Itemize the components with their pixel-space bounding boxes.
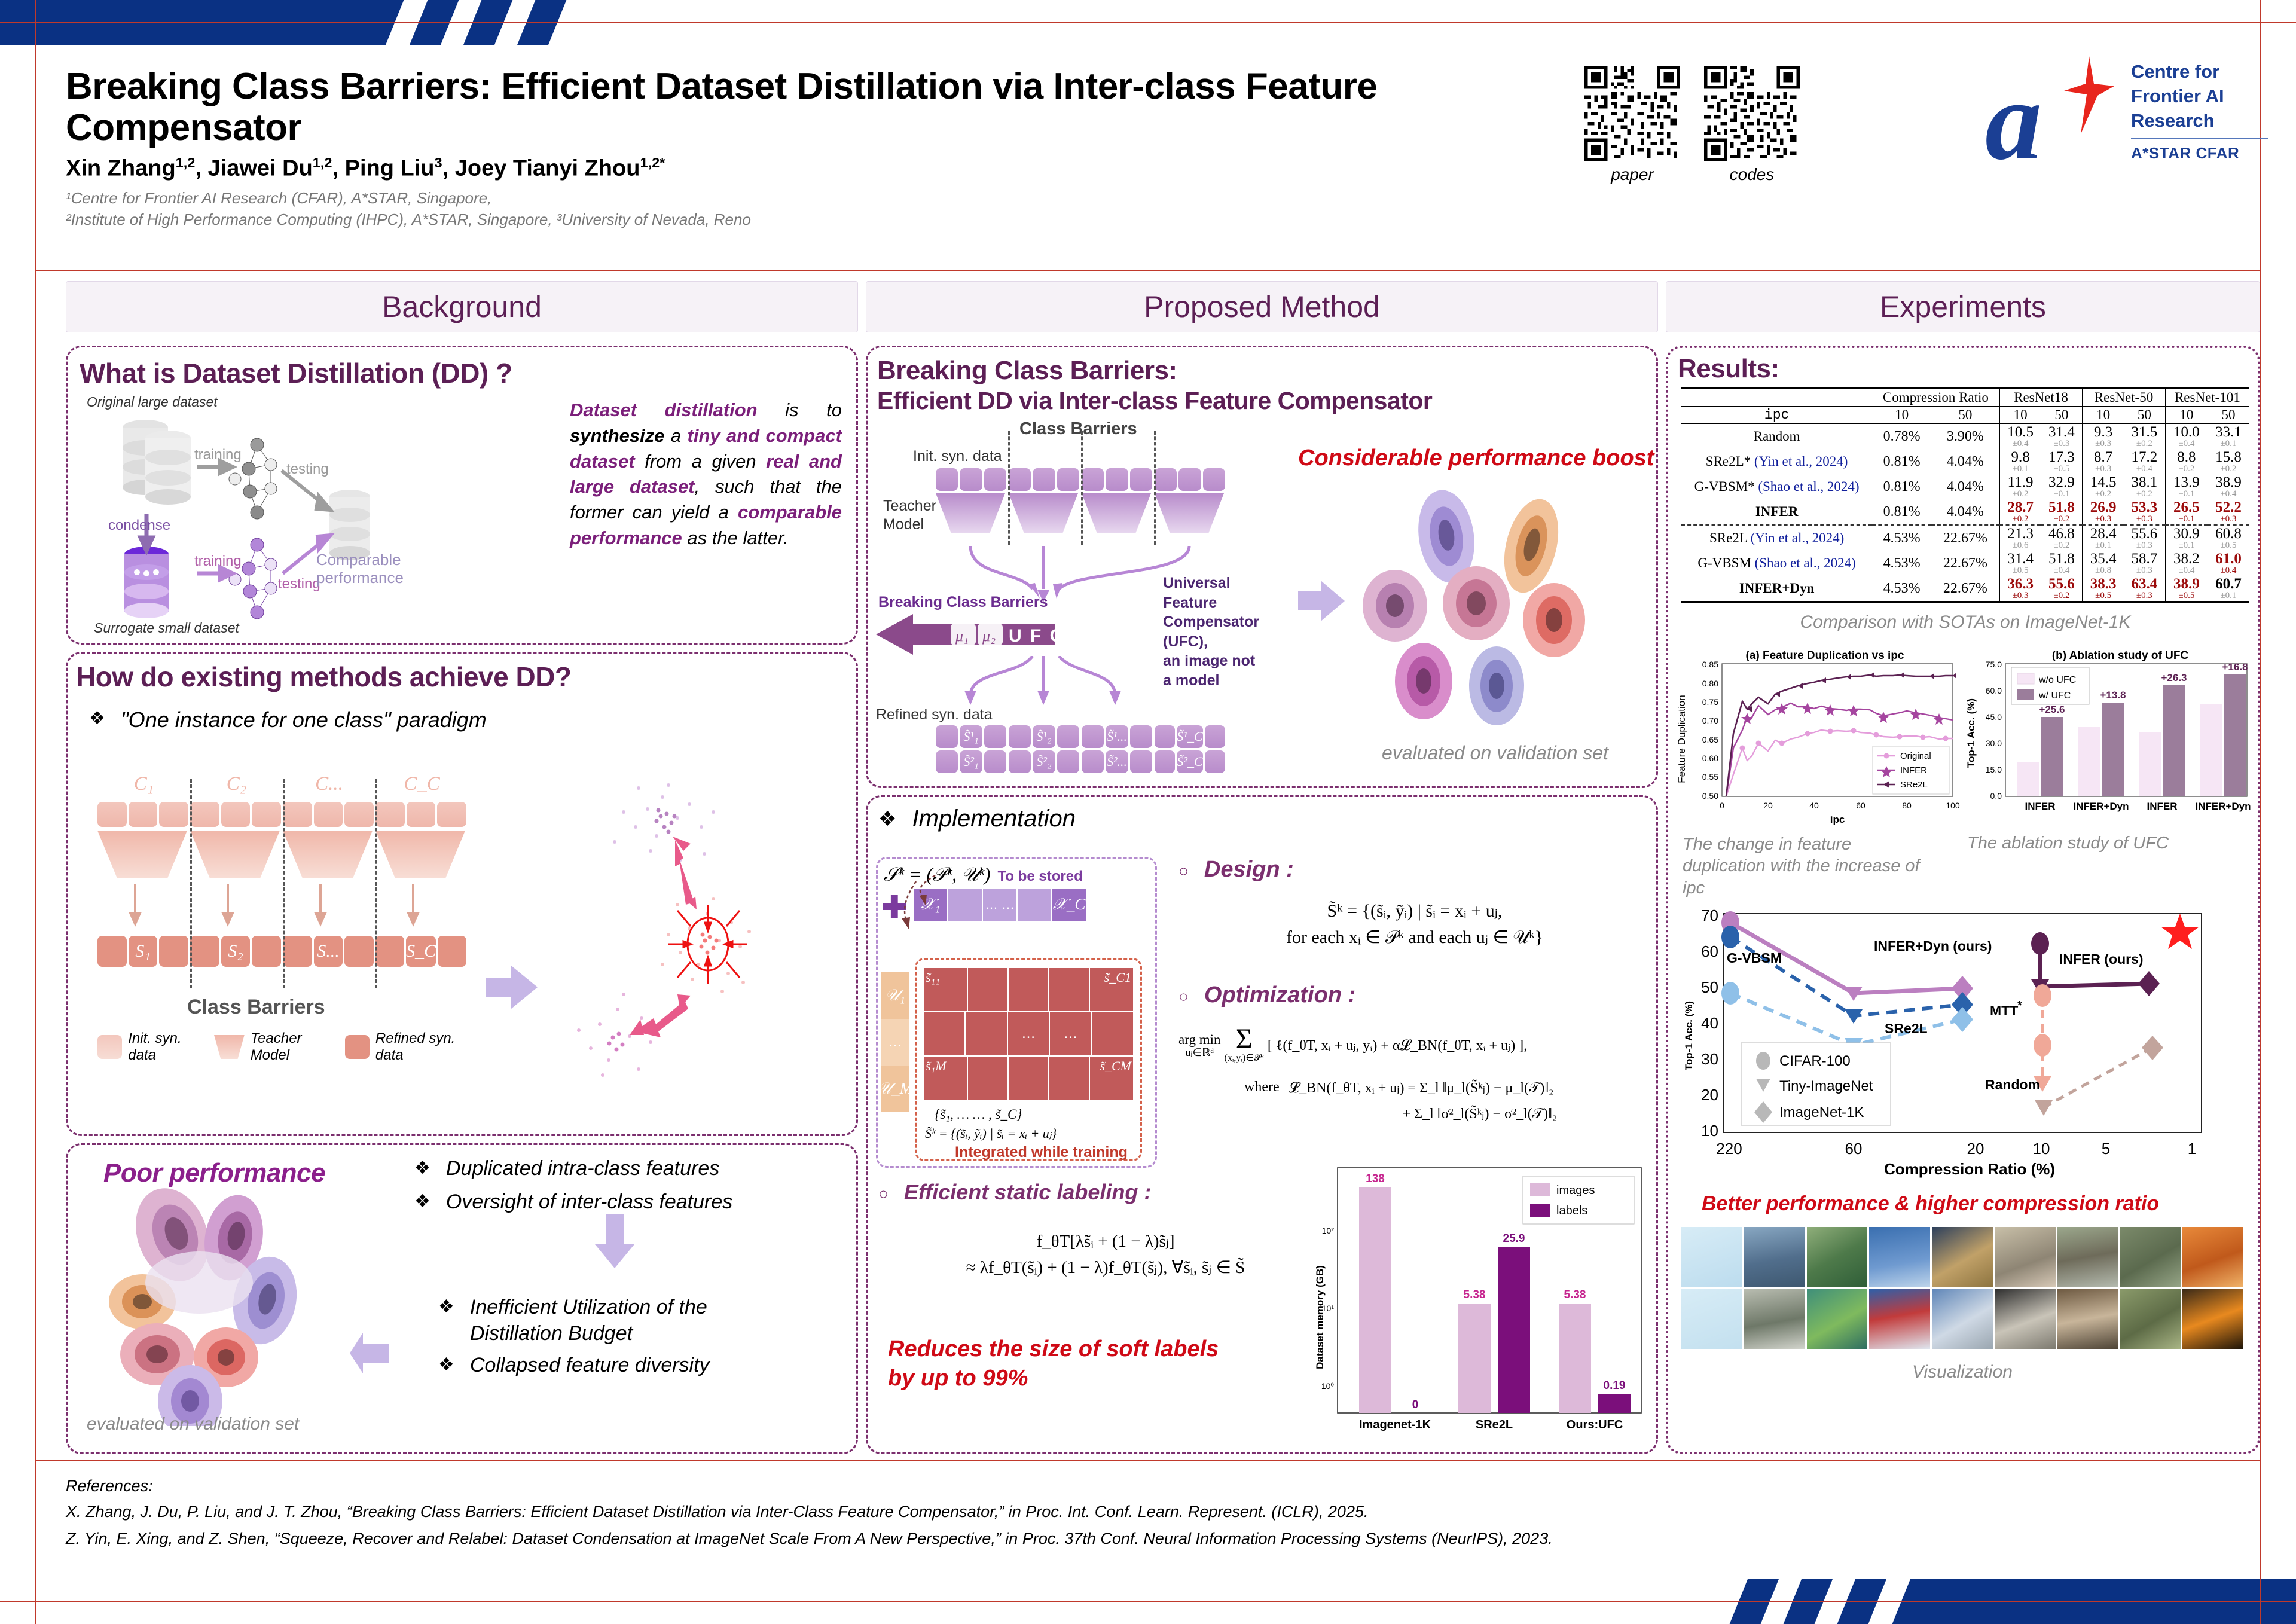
svg-text:+25.6: +25.6	[2039, 704, 2065, 715]
poor-performance-label: Poor performance	[103, 1158, 325, 1188]
panel-what-is-dd: What is Dataset Distillation (DD) ? Orig…	[66, 346, 858, 645]
table-row-method: G-VBSM (Shao et al., 2024)	[1681, 551, 1872, 576]
svg-text:45.0: 45.0	[1986, 712, 2002, 722]
memory-bar-chart: Dataset memory (GB) 10² 10¹ 10⁰ 138 0 5.…	[1310, 1162, 1651, 1443]
svg-text:Top-1 Acc. (%): Top-1 Acc. (%)	[1683, 1001, 1694, 1070]
qr-paper[interactable]: paper	[1584, 66, 1680, 184]
svg-text:30: 30	[1701, 1050, 1718, 1068]
circle-bullet-icon: ○	[1178, 862, 1189, 881]
table-cell-accuracy: 17.2±0.4	[2124, 449, 2165, 474]
visualization-row-1	[1681, 1227, 2243, 1287]
th-r18-10: 10	[1999, 407, 2041, 424]
svg-text:60: 60	[1845, 1140, 1863, 1158]
th-r101-10: 10	[2165, 407, 2208, 424]
panel-results: Results: Compression Ratio ResNet18 ResN…	[1666, 346, 2260, 1454]
table-cell-accuracy: 31.4±0.5	[1999, 551, 2041, 576]
class-barriers-label: Class Barriers	[187, 996, 325, 1019]
class-barrier-divider	[190, 779, 192, 988]
poor-performance-bullets-bottom: ❖ Inefficient Utilization of the Distill…	[438, 1295, 845, 1379]
qr-paper-label: paper	[1584, 165, 1680, 184]
table-cell-compression-ratio: 4.04%	[1931, 474, 1999, 499]
diamond-bullet-icon: ❖	[89, 710, 105, 728]
class-barriers-heading: Class Barriers	[1019, 419, 1137, 439]
svg-text:0.55: 0.55	[1702, 772, 1718, 782]
section-header-experiments-label: Experiments	[1880, 289, 2046, 324]
table-cell-compression-ratio: 3.90%	[1931, 424, 1999, 450]
table-row: G-VBSM* (Shao et al., 2024)0.81%4.04%11.…	[1681, 474, 2249, 499]
section-header-proposed-method-label: Proposed Method	[1144, 289, 1380, 324]
visualization-tile	[2057, 1227, 2118, 1287]
class-label-1: C₁	[97, 773, 190, 795]
class-label-2: C₂	[190, 773, 283, 795]
label-performance: performance	[316, 569, 404, 587]
refined-label-r1c3: S̃¹...	[1106, 725, 1128, 748]
th-cr-10: 10	[1872, 407, 1931, 424]
argmin-sub: uⱼ∈ℝᵈ	[1178, 1047, 1220, 1059]
svg-text:0.80: 0.80	[1702, 679, 1718, 688]
table-row-method: INFER	[1681, 499, 1872, 525]
breaking-class-barriers-label: Breaking Class Barriers	[878, 594, 1048, 611]
compression-accuracy-chart: Top-1 Acc. (%) 706050 40302010 2206020 1…	[1677, 904, 2245, 1185]
svg-text:MTT: MTT	[1990, 1003, 2018, 1018]
table-row: Random0.78%3.90%10.5±0.431.4±0.39.3±0.33…	[1681, 424, 2249, 450]
refined-syn-tiles: S̃¹₁ S̃¹₂ S̃¹... S̃¹_C S̃²₁ S̃²₂ S̃²... …	[936, 725, 1225, 773]
visualization-tile	[1807, 1289, 1868, 1349]
table-cell-accuracy: 60.7±0.1	[2208, 576, 2249, 602]
logo-text-block: Centre for Frontier AI Research	[2131, 60, 2268, 133]
caption-chart-a: The change in feature duplication with t…	[1683, 834, 1934, 899]
svg-text:SRe2L: SRe2L	[1476, 1418, 1513, 1431]
u-first: 𝒰₁	[881, 972, 909, 1019]
circle-bullet-icon: ○	[878, 1185, 889, 1204]
refined-label-r2c3: S̃²...	[1106, 750, 1128, 773]
x-last: 𝒳_C	[1052, 889, 1086, 921]
svg-text:INFER: INFER	[2025, 801, 2056, 812]
caption-chart-b: The ablation study of UFC	[1967, 834, 2218, 853]
database-stack-small	[124, 547, 169, 618]
label-testing-top: testing	[286, 461, 329, 478]
storage-box: 𝒮ᵏ = (𝒫ᵏ, 𝒰ᵏ) To be stored ✚ 𝒳₁ … … 𝒳_C …	[876, 857, 1157, 1168]
implementation-heading-row: ❖ Implementation	[878, 805, 1656, 832]
svg-text:CIFAR-100: CIFAR-100	[1779, 1053, 1851, 1069]
u-last: 𝒰_M	[881, 1066, 909, 1112]
svg-text:0: 0	[1720, 801, 1724, 810]
th-cr-50: 50	[1931, 407, 1999, 424]
diverging-arrows-bottom	[876, 656, 1259, 710]
th-resnet18: ResNet18	[1999, 389, 2083, 407]
design-formula-line2: for each xᵢ ∈ 𝒫ᵏ and each uⱼ ∈ 𝒰ᵏ}	[1178, 924, 1651, 951]
refined-syn-data-label: Refined syn. data	[876, 706, 993, 724]
table-cell-accuracy: 31.5±0.2	[2124, 424, 2165, 450]
teacher-trapezoids	[936, 493, 1224, 533]
u-dots: …	[881, 1019, 909, 1066]
svg-text:1: 1	[2188, 1140, 2196, 1158]
grid-br: s̃_CM	[1090, 1057, 1133, 1100]
panel-implementation: ❖ Implementation 𝒮ᵏ = (𝒫ᵏ, 𝒰ᵏ) To be sto…	[866, 795, 1658, 1454]
table-cell-accuracy: 8.8±0.2	[2165, 449, 2208, 474]
results-table-body: Random0.78%3.90%10.5±0.431.4±0.39.3±0.33…	[1681, 424, 2249, 602]
diamond-bullet-icon: ❖	[414, 1159, 430, 1177]
table-row: SRe2L* (Yin et al., 2024)0.81%4.04%9.8±0…	[1681, 449, 2249, 474]
table-cell-compression-ratio: 22.67%	[1931, 551, 1999, 576]
table-cell-accuracy: 58.7±0.3	[2124, 551, 2165, 576]
section-header-proposed-method: Proposed Method	[866, 281, 1658, 332]
design-formula-line1: S̃ᵏ = {(s̃ᵢ, ỹᵢ) | s̃ᵢ = xᵢ + uⱼ,	[1178, 898, 1651, 924]
table-cell-accuracy: 8.7±0.3	[2083, 449, 2124, 474]
svg-text:Feature Duplication: Feature Duplication	[1676, 695, 1687, 783]
svg-text:50: 50	[1701, 978, 1718, 996]
visualization-grid: Visualization	[1681, 1227, 2243, 1382]
table-cell-accuracy: 51.8±0.2	[2041, 499, 2082, 525]
s-grid: s̃₁₁ s̃_C1 … … s̃₁M	[924, 968, 1133, 1100]
table-cell-accuracy: 17.3±0.5	[2041, 449, 2082, 474]
legend-teacher-model-label: Teacher Model	[251, 1030, 339, 1064]
visualization-tile	[1807, 1227, 1868, 1287]
visualization-tile	[2057, 1289, 2118, 1349]
svg-text:Ours:UFC: Ours:UFC	[1567, 1418, 1623, 1431]
feature-scatter-illustration	[534, 761, 845, 1096]
table-cell-accuracy: 55.6±0.2	[2041, 576, 2082, 602]
table-row: G-VBSM (Shao et al., 2024)4.53%22.67%31.…	[1681, 551, 2249, 576]
svg-text:Top-1 Acc. (%): Top-1 Acc. (%)	[1965, 698, 1977, 768]
svg-text:75.0: 75.0	[1986, 660, 2002, 669]
table-row-method: SRe2L (Yin et al., 2024)	[1681, 525, 1872, 551]
visualization-tile	[1681, 1227, 1742, 1287]
design-block: ○ Design : S̃ᵏ = {(s̃ᵢ, ỹᵢ) | s̃ᵢ = xᵢ +…	[1178, 857, 1651, 950]
logo-line-1: Centre for	[2131, 60, 2268, 84]
table-cell-accuracy: 10.0±0.4	[2165, 424, 2208, 450]
svg-text:Dataset memory (GB): Dataset memory (GB)	[1314, 1265, 1326, 1369]
table-cell-accuracy: 10.5±0.4	[1999, 424, 2041, 450]
class-barrier-divider	[283, 779, 285, 988]
visualization-caption: Visualization	[1681, 1362, 2243, 1382]
labeling-block: ○ Efficient static labeling : f_θT[λs̃ᵢ …	[878, 1180, 1333, 1394]
svg-text:ipc: ipc	[1830, 814, 1845, 825]
svg-text:20: 20	[1967, 1140, 1984, 1158]
table-caption: Comparison with SOTAs on ImageNet-1K	[1681, 612, 2249, 633]
section-header-background: Background	[66, 281, 858, 332]
label-comparable: Comparable	[316, 551, 401, 569]
paradigm-bullet-label: "One instance for one class" paradigm	[121, 706, 487, 734]
table-cell-compression-ratio: 4.04%	[1931, 499, 1999, 525]
class-label-3: C...	[283, 773, 375, 795]
svg-text:(b) Ablation study of UFC: (b) Ablation study of UFC	[2052, 649, 2189, 662]
refined-label-r2c4: S̃²_C	[1177, 750, 1202, 773]
refined-label-r1c4: S̃¹_C	[1177, 725, 1202, 748]
label-surrogate: Surrogate small dataset	[94, 620, 239, 636]
qr-code-icon[interactable]	[1584, 66, 1680, 161]
table-cell-accuracy: 14.5±0.2	[2083, 474, 2124, 499]
svg-text:0.75: 0.75	[1702, 697, 1718, 707]
visualization-tile	[1995, 1289, 2056, 1349]
u-column: 𝒰₁ … 𝒰_M	[881, 972, 909, 1112]
teacher-model-line1: Teacher	[883, 497, 936, 515]
table-cell-accuracy: 35.4±0.8	[2083, 551, 2124, 576]
label-condense: condense	[108, 517, 170, 534]
table-cell-accuracy: 55.6±0.3	[2124, 525, 2165, 551]
qr-code-icon[interactable]	[1704, 66, 1800, 161]
curved-arrow-icon	[896, 871, 949, 936]
ufc-note-line1: Universal Feature	[1163, 573, 1259, 612]
where-label: where	[1244, 1079, 1280, 1122]
bullet-oversight-inter-class: Oversight of inter-class features	[446, 1189, 732, 1216]
table-row: INFER+Dyn4.53%22.67%36.3±0.355.6±0.238.3…	[1681, 576, 2249, 602]
dd-definition-blurb: Dataset distillation is to synthesize a …	[570, 398, 842, 551]
refined-label-r2c2: S̃²₂	[1033, 750, 1055, 773]
header-separator-rule	[35, 270, 2261, 271]
svg-text:0.60: 0.60	[1702, 753, 1718, 763]
panel-breaking-class-barriers: Breaking Class Barriers: Efficient DD vi…	[866, 346, 1658, 788]
class-barrier-diagram: C₁ C₂ C... C_C	[97, 773, 480, 1108]
table-cell-accuracy: 32.9±0.1	[2041, 474, 2082, 499]
references-block: References: X. Zhang, J. Du, P. Liu, and…	[66, 1477, 2248, 1549]
table-cell-compression-ratio: 4.53%	[1872, 525, 1931, 551]
svg-text:5.38: 5.38	[1564, 1289, 1586, 1301]
argmin-label: arg min	[1178, 1032, 1220, 1047]
table-cell-accuracy: 38.2±0.4	[2165, 551, 2208, 576]
svg-text:INFER: INFER	[1900, 765, 1927, 776]
affiliation-line-1: ¹Centre for Frontier AI Research (CFAR),…	[66, 188, 2230, 208]
init-syn-tiles	[936, 468, 1225, 491]
legend-refined-syn-label: Refined syn. data	[375, 1030, 480, 1064]
table-cell-accuracy: 38.9±0.5	[2165, 576, 2208, 602]
svg-text:5: 5	[2102, 1140, 2110, 1158]
database-stack-large	[123, 420, 191, 505]
svg-text:G-VBSM: G-VBSM	[1727, 950, 1782, 966]
table-cell-accuracy: 31.4±0.3	[2041, 424, 2082, 450]
ufc-bar	[876, 610, 1259, 658]
svg-text:(a) Feature Duplication vs ipc: (a) Feature Duplication vs ipc	[1746, 649, 1904, 662]
diamond-bullet-icon: ❖	[878, 809, 896, 829]
performance-boost-label: Considerable performance boost	[1298, 445, 1654, 471]
table-row: SRe2L (Yin et al., 2024)4.53%22.67%21.3±…	[1681, 525, 2249, 551]
labeling-formula-line1: f_θT[λs̃ᵢ + (1 − λ)s̃ⱼ]	[878, 1229, 1333, 1255]
svg-text:60.0: 60.0	[1986, 686, 2002, 695]
init-syn-tiles-row	[97, 802, 466, 827]
label-training-top: training	[194, 447, 242, 463]
svg-text:40: 40	[1701, 1014, 1718, 1032]
claim-line2: by up to 99%	[888, 1364, 1333, 1393]
svg-text:138: 138	[1366, 1173, 1385, 1185]
svg-text:0.0: 0.0	[1990, 791, 2002, 801]
labeling-formula-line2: ≈ λf_θT(s̃ᵢ) + (1 − λ)f_θT(s̃ⱼ), ∀s̃ᵢ, s…	[878, 1255, 1333, 1281]
grid-tr: s̃_C1	[1090, 968, 1133, 1011]
panel-what-is-dd-title: What is Dataset Distillation (DD) ?	[80, 357, 856, 389]
table-cell-accuracy: 60.8±0.5	[2208, 525, 2249, 551]
svg-text:0.85: 0.85	[1702, 660, 1718, 669]
method-density-plot	[1346, 479, 1627, 736]
training-box: s̃₁₁ s̃_C1 … … s̃₁M	[915, 958, 1142, 1161]
syn-label-4: S_C	[406, 936, 436, 967]
poor-performance-bullets-top: ❖ Duplicated intra-class features ❖ Over…	[414, 1156, 732, 1215]
x-dots: … …	[983, 889, 1016, 921]
table-cell-compression-ratio: 0.81%	[1872, 449, 1931, 474]
svg-text:INFER+Dyn (ours): INFER+Dyn (ours)	[1874, 938, 1992, 954]
table-cell-accuracy: 13.9±0.1	[2165, 474, 2208, 499]
svg-text:Tiny-ImageNet: Tiny-ImageNet	[1779, 1078, 1873, 1094]
bullet-duplicated-intra-class: Duplicated intra-class features	[446, 1156, 719, 1182]
svg-text:10²: 10²	[1322, 1226, 1335, 1235]
svg-text:15.0: 15.0	[1986, 765, 2002, 774]
table-cell-accuracy: 52.2±0.3	[2208, 499, 2249, 525]
mu1-label: μ₁	[955, 627, 969, 645]
table-cell-compression-ratio: 22.67%	[1931, 525, 1999, 551]
diamond-bullet-icon: ❖	[438, 1356, 454, 1374]
double-arrow-up	[673, 837, 697, 909]
method-title-line2: Efficient DD via Inter-class Feature Com…	[877, 387, 1656, 415]
class-barrier-divider	[1008, 431, 1010, 545]
class-barrier-divider	[375, 779, 377, 988]
labeling-heading: Efficient static labeling :	[904, 1180, 1151, 1205]
svg-text:0.50: 0.50	[1702, 791, 1718, 801]
table-row-method: INFER+Dyn	[1681, 576, 1872, 602]
svg-text:w/o UFC: w/o UFC	[2038, 675, 2076, 685]
svg-text:80: 80	[1902, 801, 1912, 810]
results-table: Compression Ratio ResNet18 ResNet-50 Res…	[1681, 387, 2249, 603]
class-barrier-divider	[1081, 431, 1083, 545]
qr-code-group: paper	[1584, 66, 1800, 184]
svg-text:*: *	[2017, 999, 2022, 1012]
table-cell-compression-ratio: 0.78%	[1872, 424, 1931, 450]
poster-header: Breaking Class Barriers: Efficient Datas…	[66, 66, 2230, 269]
visualization-tile	[2120, 1289, 2181, 1349]
svg-text:Random: Random	[1985, 1077, 2040, 1092]
refined-syn-tiles-row: S₁ S₂ S... S_C	[97, 936, 466, 967]
svg-text:60: 60	[1701, 942, 1718, 960]
visualization-tile	[1744, 1227, 1805, 1287]
ufc-box-label: U F C	[1009, 626, 1064, 646]
diagram-legend: Init. syn. data Teacher Model Refined sy…	[97, 1030, 480, 1064]
table-cell-accuracy: 9.8±0.1	[1999, 449, 2041, 474]
syn-label-2: S₂	[221, 936, 251, 967]
svg-text:10: 10	[2033, 1140, 2050, 1158]
svg-text:0.70: 0.70	[1702, 716, 1718, 725]
bn-loss-line1: 𝓛_BN(f_θT, xᵢ + uⱼ) = Σ_l ‖μ_l(S̃ᵏⱼ) − μ…	[1289, 1079, 1558, 1097]
poor-performance-density-plot	[86, 1187, 373, 1426]
panel-existing-methods-title: How do existing methods achieve DD?	[76, 661, 856, 693]
qr-codes-label: codes	[1704, 165, 1800, 184]
table-cell-accuracy: 63.4±0.3	[2124, 576, 2165, 602]
refined-label-r1c2: S̃¹₂	[1033, 725, 1055, 748]
svg-text:+13.8: +13.8	[2100, 689, 2126, 701]
circle-bullet-icon: ○	[1178, 987, 1189, 1006]
refined-label-r1c1: S̃¹₁	[960, 725, 982, 748]
dd-diagram: Original large dataset	[80, 394, 558, 633]
table-cell-accuracy: 38.3±0.5	[2083, 576, 2124, 602]
table-cell-accuracy: 38.1±0.2	[2124, 474, 2165, 499]
svg-text:25.9: 25.9	[1503, 1232, 1525, 1245]
table-cell-accuracy: 21.3±0.6	[1999, 525, 2041, 551]
transition-arrow-right	[486, 964, 540, 1012]
table-cell-accuracy: 33.1±0.1	[2208, 424, 2249, 450]
author-list: Xin Zhang1,2, Jiawei Du1,2, Ping Liu3, J…	[66, 155, 2230, 182]
svg-text:images: images	[1556, 1184, 1595, 1197]
paradigm-bullet: ❖ "One instance for one class" paradigm	[89, 706, 856, 734]
results-title: Results:	[1678, 354, 2258, 384]
logo-line-2: Frontier AI	[2131, 84, 2268, 109]
panel-poor-performance: Poor performance	[66, 1143, 858, 1454]
set-line: {s̃₁, … … , s̃_C}	[935, 1107, 1022, 1122]
teacher-model-label: Teacher Model	[883, 497, 936, 533]
refined-label-r2c1: S̃²₁	[960, 750, 982, 773]
class-label-4: C_C	[375, 773, 468, 795]
table-cell-accuracy: 30.9±0.1	[2165, 525, 2208, 551]
to-be-stored-note: To be stored	[998, 868, 1083, 885]
qr-codes[interactable]: codes	[1704, 66, 1800, 184]
visualization-tile	[1869, 1289, 1930, 1349]
visualization-tile	[1681, 1289, 1742, 1349]
validation-caption: evaluated on validation set	[87, 1414, 299, 1434]
svg-text:5.38: 5.38	[1464, 1289, 1486, 1301]
better-performance-label: Better performance & higher compression …	[1702, 1192, 2159, 1216]
optimization-heading: Optimization :	[1204, 982, 1355, 1008]
star-icon	[2052, 55, 2124, 139]
double-arrow-down	[630, 994, 691, 1037]
table-cell-accuracy: 51.8±0.4	[2041, 551, 2082, 576]
th-ipc: ipc	[1681, 407, 1872, 424]
objective-formula: [ ℓ(f_θT, xᵢ + uⱼ, yᵢ) + α𝓛_BN(f_θT, xᵢ …	[1268, 1037, 1527, 1054]
svg-text:w/ UFC: w/ UFC	[2038, 691, 2071, 701]
svg-text:Original: Original	[1900, 751, 1931, 761]
th-r50-50: 50	[2124, 407, 2165, 424]
teacher-model-line2: Model	[883, 515, 936, 534]
table-cell-accuracy: 9.3±0.3	[2083, 424, 2124, 450]
th-resnet101: ResNet-101	[2165, 389, 2249, 407]
th-resnet50: ResNet-50	[2083, 389, 2166, 407]
svg-text:0: 0	[1412, 1399, 1419, 1411]
integrated-while-training-label: Integrated while training	[955, 1144, 1128, 1161]
th-r101-50: 50	[2208, 407, 2249, 424]
left-red-rule	[35, 0, 36, 1624]
results-table-wrap: Compression Ratio ResNet18 ResNet-50 Res…	[1681, 387, 2249, 633]
visualization-tile	[1932, 1227, 1993, 1287]
cfar-logo: a Centre for Frontier AI Research A*STAR…	[1985, 60, 2268, 163]
svg-text:70: 70	[1701, 906, 1718, 924]
table-cell-compression-ratio: 4.04%	[1931, 449, 1999, 474]
table-cell-compression-ratio: 0.81%	[1872, 474, 1931, 499]
svg-text:0.19: 0.19	[1604, 1379, 1626, 1392]
method-validation-caption: evaluated on validation set	[1382, 742, 1608, 764]
grid-tl: s̃₁₁	[924, 968, 967, 1011]
th-r18-50: 50	[2041, 407, 2082, 424]
table-cell-accuracy: 46.8±0.2	[2041, 525, 2082, 551]
svg-text:0.65: 0.65	[1702, 735, 1718, 744]
svg-text:Compression Ratio (%): Compression Ratio (%)	[1884, 1160, 2055, 1178]
visualization-tile	[2120, 1227, 2181, 1287]
syn-label-1: S₁	[129, 936, 158, 967]
svg-text:10¹: 10¹	[1322, 1304, 1335, 1313]
section-header-background-label: Background	[382, 289, 542, 324]
svg-text:INFER+Dyn: INFER+Dyn	[2195, 801, 2251, 812]
table-cell-accuracy: 53.3±0.3	[2124, 499, 2165, 525]
logo-line-3: Research	[2131, 109, 2268, 133]
class-barrier-divider	[1154, 431, 1156, 545]
footer-separator-rule	[35, 1460, 2261, 1461]
top-red-rule	[0, 22, 2296, 23]
grid-bl: s̃₁M	[924, 1057, 967, 1100]
visualization-tile	[1869, 1227, 1930, 1287]
visualization-row-2	[1681, 1289, 2243, 1349]
table-row-method: Random	[1681, 424, 1872, 450]
table-cell-accuracy: 61.0±0.4	[2208, 551, 2249, 576]
table-cell-compression-ratio: 0.81%	[1872, 499, 1931, 525]
svg-text:40: 40	[1809, 801, 1819, 810]
panel-existing-methods: How do existing methods achieve DD? ❖ "O…	[66, 652, 858, 1136]
table-row-method: SRe2L* (Yin et al., 2024)	[1681, 449, 1872, 474]
mu2-label: μ₂	[982, 627, 996, 645]
label-testing-bottom: testing	[278, 576, 320, 593]
implementation-heading: Implementation	[912, 805, 1075, 832]
